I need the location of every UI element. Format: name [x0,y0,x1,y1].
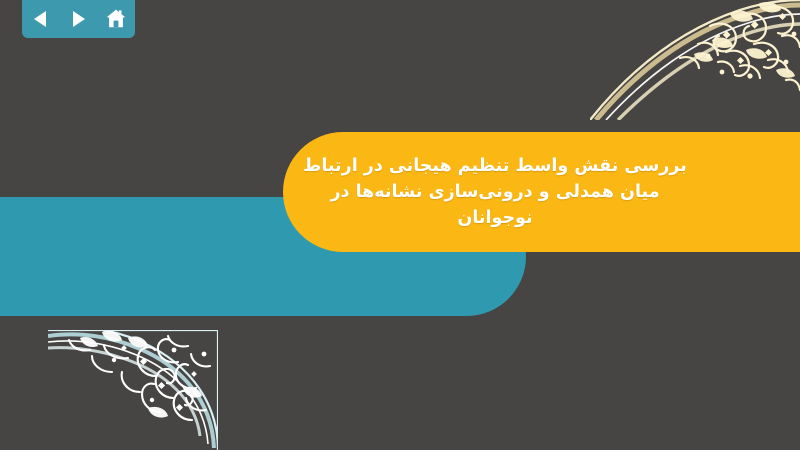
forward-button[interactable] [65,6,91,32]
title-line-1: بررسی نقش واسط تنظیم هیجانی در ارتباط [300,153,690,179]
presentation-slide: بررسی نقش واسط تنظیم هیجانی در ارتباط می… [0,0,800,450]
back-button[interactable] [28,6,54,32]
navigation-bar [22,0,135,38]
slide-title: بررسی نقش واسط تنظیم هیجانی در ارتباط می… [300,134,690,250]
home-button[interactable] [103,6,129,32]
arabesque-ornament-icon [48,330,218,450]
arabesque-ornament-icon [590,0,800,120]
title-line-2: میان همدلی و درونی‌سازی نشانه‌ها در [300,179,690,205]
title-line-3: نوجوانان [300,205,690,231]
